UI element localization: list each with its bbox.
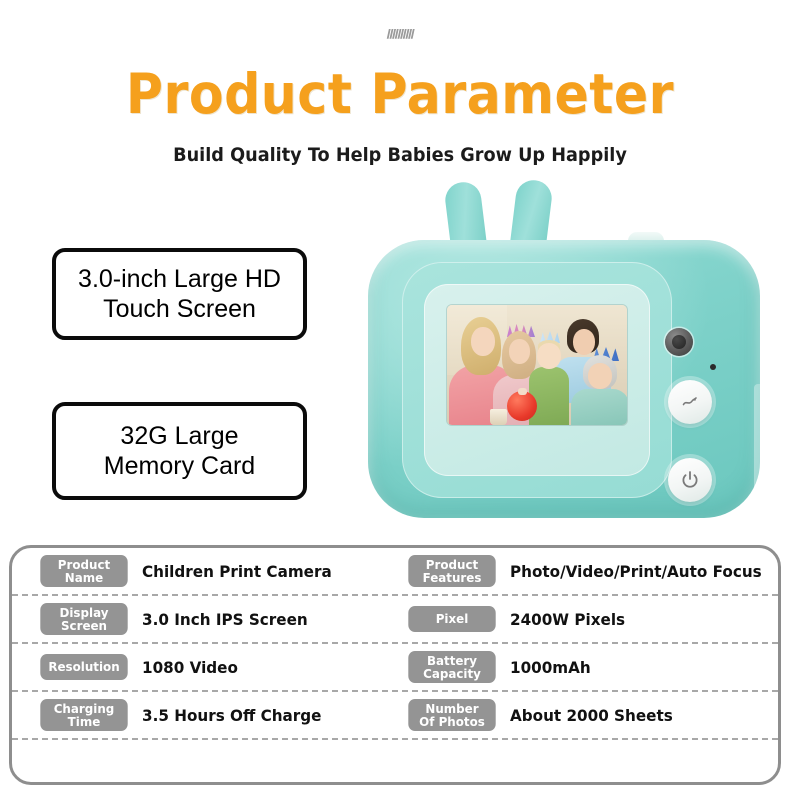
photo-person-5-body [571, 389, 627, 425]
callout-touch-screen-line1: 3.0-inch Large HD [78, 264, 281, 295]
spec-value: Photo/Video/Print/Auto Focus [510, 562, 762, 581]
callout-memory-card: 32G Large Memory Card [52, 402, 307, 500]
photo-red-balloon [507, 391, 537, 421]
spec-value: 2400W Pixels [510, 610, 625, 629]
spec-label: Display Screen [40, 603, 127, 635]
power-button[interactable] [668, 458, 712, 502]
spec-label: Battery Capacity [408, 651, 495, 683]
table-row: Resolution 1080 Video Battery Capacity 1… [12, 644, 778, 692]
spec-cell-battery-capacity: Battery Capacity 1000mAh [394, 644, 776, 690]
spec-label: Charging Time [40, 699, 127, 731]
callout-memory-card-line2: Memory Card [104, 451, 255, 482]
callout-touch-screen: 3.0-inch Large HD Touch Screen [52, 248, 307, 340]
spec-cell-product-name: Product Name Children Print Camera [12, 548, 394, 594]
page-subtitle: Build Quality To Help Babies Grow Up Hap… [28, 144, 772, 166]
camera-lens-core [672, 335, 686, 349]
spec-cell-number-of-photos: Number Of Photos About 2000 Sheets [394, 692, 776, 738]
spec-label: Number Of Photos [408, 699, 495, 731]
spec-cell-display-screen: Display Screen 3.0 Inch IPS Screen [12, 596, 394, 642]
spec-value: 1000mAh [510, 658, 591, 677]
table-row: Charging Time 3.5 Hours Off Charge Numbe… [12, 692, 778, 740]
spec-cell-charging-time: Charging Time 3.5 Hours Off Charge [12, 692, 394, 738]
camera-indicator-led [710, 364, 716, 370]
photo-person-2-face [509, 339, 530, 364]
page-title: Product Parameter [32, 62, 768, 126]
spec-value: 3.0 Inch IPS Screen [142, 610, 308, 629]
table-row: Display Screen 3.0 Inch IPS Screen Pixel… [12, 596, 778, 644]
product-image-camera [360, 178, 780, 523]
spec-cell-pixel: Pixel 2400W Pixels [394, 596, 776, 642]
callout-memory-card-line1: 32G Large [120, 421, 238, 452]
spec-label: Product Features [408, 555, 495, 587]
callout-touch-screen-line2: Touch Screen [103, 294, 256, 325]
spec-panel: Product Name Children Print Camera Produ… [9, 545, 781, 785]
photo-person-5-face [588, 363, 612, 389]
spec-cell-resolution: Resolution 1080 Video [12, 644, 394, 690]
product-parameter-page: ////////// Product Parameter Build Quali… [0, 0, 800, 800]
photo-baby-body [529, 367, 569, 425]
shutter-button[interactable] [668, 380, 712, 424]
spec-label: Product Name [40, 555, 127, 587]
spec-value: Children Print Camera [142, 562, 332, 581]
spec-value: About 2000 Sheets [510, 706, 673, 725]
photo-person-4-face [573, 329, 595, 355]
camera-lens-icon [665, 328, 693, 356]
spec-value: 3.5 Hours Off Charge [142, 706, 321, 725]
shutter-arrow-icon [679, 391, 701, 413]
spec-cell-product-features: Product Features Photo/Video/Print/Auto … [394, 548, 776, 594]
power-icon [679, 469, 701, 491]
camera-side-controls [754, 384, 768, 494]
photo-person-1-face [471, 327, 495, 356]
table-row: Product Name Children Print Camera Produ… [12, 548, 778, 596]
spec-label: Pixel [408, 606, 495, 632]
photo-cup [490, 409, 507, 425]
photo-baby-head [537, 343, 561, 369]
spec-value: 1080 Video [142, 658, 238, 677]
camera-body [368, 240, 760, 518]
photo-balloon-knot [518, 388, 527, 395]
ornament-slashes: ////////// [0, 27, 800, 41]
spec-label: Resolution [40, 654, 127, 680]
camera-screen-bezel [424, 284, 650, 476]
camera-inner-panel [402, 262, 672, 498]
camera-screen [447, 305, 627, 425]
